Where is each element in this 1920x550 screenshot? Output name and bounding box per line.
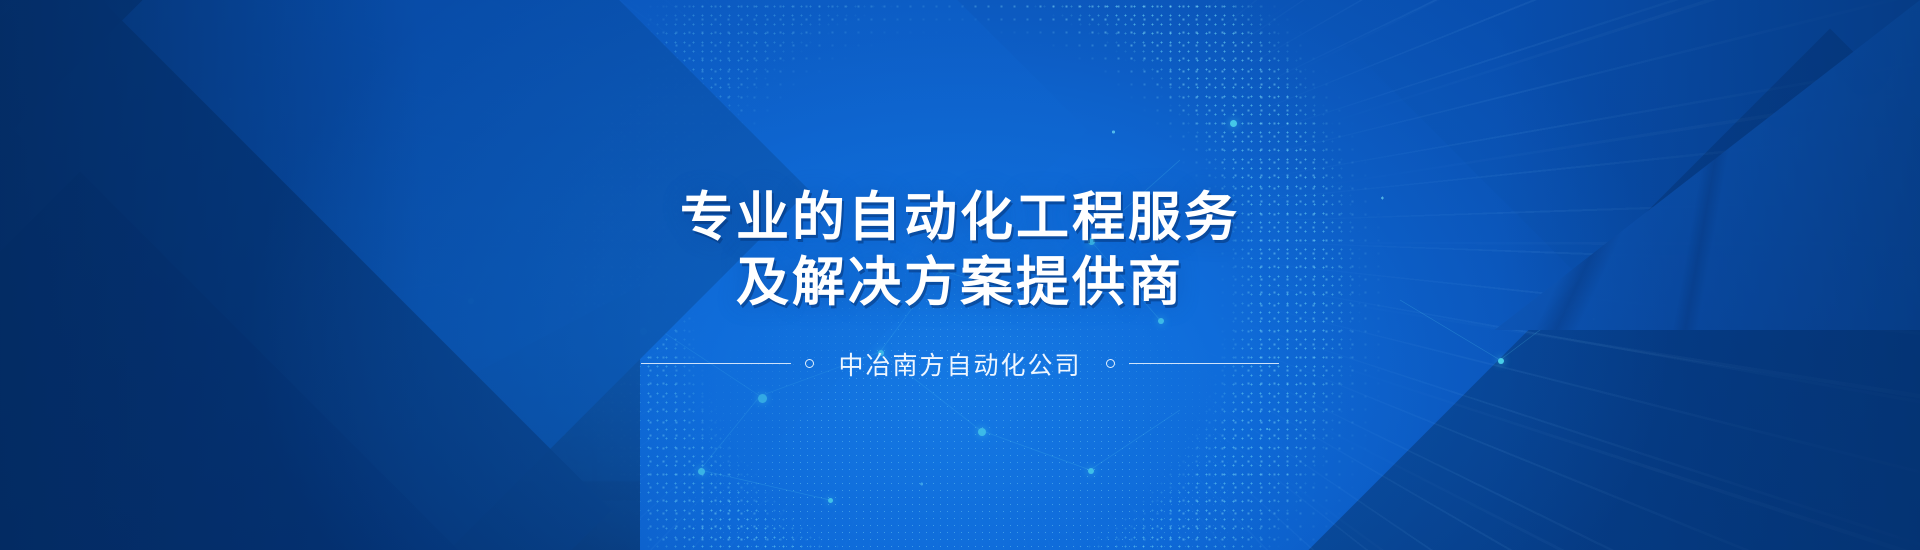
hero-banner: 专业的自动化工程服务 及解决方案提供商 中冶南方自动化公司: [0, 0, 1920, 550]
banner-content: 专业的自动化工程服务 及解决方案提供商 中冶南方自动化公司: [0, 0, 1920, 550]
subtitle-row: 中冶南方自动化公司: [641, 346, 1278, 382]
left-rule: [641, 363, 791, 364]
page-title: 专业的自动化工程服务 及解决方案提供商: [680, 186, 1240, 315]
subtitle: 中冶南方自动化公司: [828, 346, 1091, 382]
right-rule: [1129, 363, 1279, 364]
title-line-1: 专业的自动化工程服务: [680, 186, 1240, 251]
left-circle-marker-icon: [805, 359, 814, 368]
right-circle-marker-icon: [1106, 359, 1115, 368]
title-line-2: 及解决方案提供商: [680, 251, 1240, 316]
